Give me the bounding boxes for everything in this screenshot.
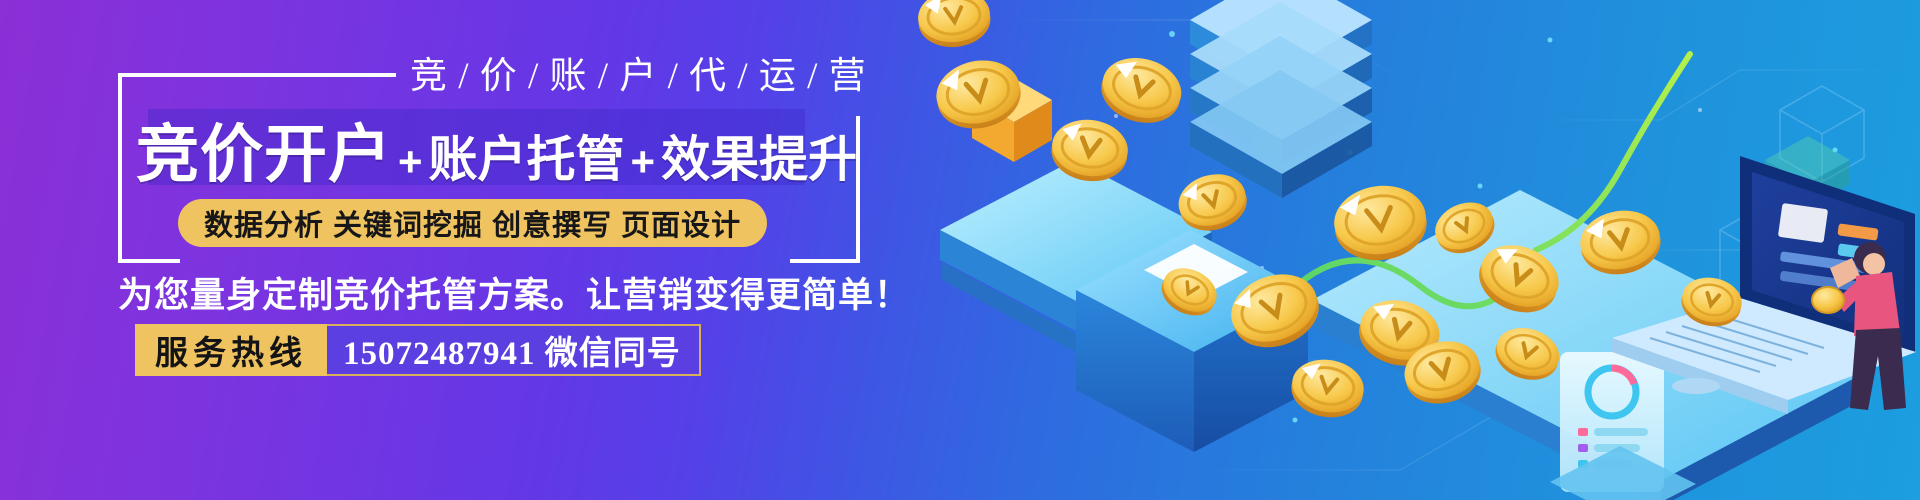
coin-cluster xyxy=(915,0,1745,423)
services-pill-label: 数据分析 关键词挖掘 创意撰写 页面设计 xyxy=(204,202,741,244)
subtitle-text: 为您量身定制竞价托管方案。让营销变得更简单！ xyxy=(118,267,910,318)
headline-plus-1: + xyxy=(392,138,429,186)
frame-line-bottom-left xyxy=(118,259,180,263)
conveyor-slab xyxy=(1312,190,1870,500)
illustration-svg xyxy=(860,0,1920,500)
card-pedestal xyxy=(1550,446,1696,500)
center-cube xyxy=(1076,230,1308,452)
headline-part-2: 账户托管 xyxy=(429,120,625,191)
top-tagline: 竞 / 价 / 账 / 户 / 代 / 运 / 营 xyxy=(410,45,867,99)
paper-sheet xyxy=(1144,244,1248,298)
tower-stack xyxy=(1190,0,1372,198)
orange-block xyxy=(972,76,1052,162)
headline-part-3: 效果提升 xyxy=(661,120,857,191)
growth-line xyxy=(1281,54,1690,306)
services-pill: 数据分析 关键词挖掘 创意撰写 页面设计 xyxy=(178,199,767,247)
headline-plus-2: + xyxy=(625,138,662,186)
hotline-label: 服务热线 xyxy=(135,324,327,376)
platform-slab-left xyxy=(940,160,1212,352)
person-character xyxy=(1812,242,1906,410)
frame-line-top xyxy=(118,73,396,77)
frame-line-bottom-right xyxy=(790,259,860,263)
frame-line-left xyxy=(118,73,122,263)
laptop-screen-content xyxy=(1778,203,1879,291)
hotline-block[interactable]: 服务热线 15072487941 微信同号 xyxy=(135,324,701,376)
report-card xyxy=(1560,352,1664,492)
headline-part-1: 竞价开户 xyxy=(136,104,392,195)
promo-banner: 竞 / 价 / 账 / 户 / 代 / 运 / 营 竞价开户 + 账户托管 + … xyxy=(0,0,1920,500)
text-content-column: 竞 / 价 / 账 / 户 / 代 / 运 / 营 竞价开户 + 账户托管 + … xyxy=(0,0,960,500)
green-block xyxy=(1765,136,1850,208)
hotline-number[interactable]: 15072487941 微信同号 xyxy=(327,324,701,376)
laptop-keyboard xyxy=(1612,298,1916,400)
isometric-illustration xyxy=(860,0,1920,500)
wireframe-cubes xyxy=(1720,86,1864,308)
main-headline: 竞价开户 + 账户托管 + 效果提升 xyxy=(136,104,857,195)
laptop xyxy=(1612,156,1916,414)
